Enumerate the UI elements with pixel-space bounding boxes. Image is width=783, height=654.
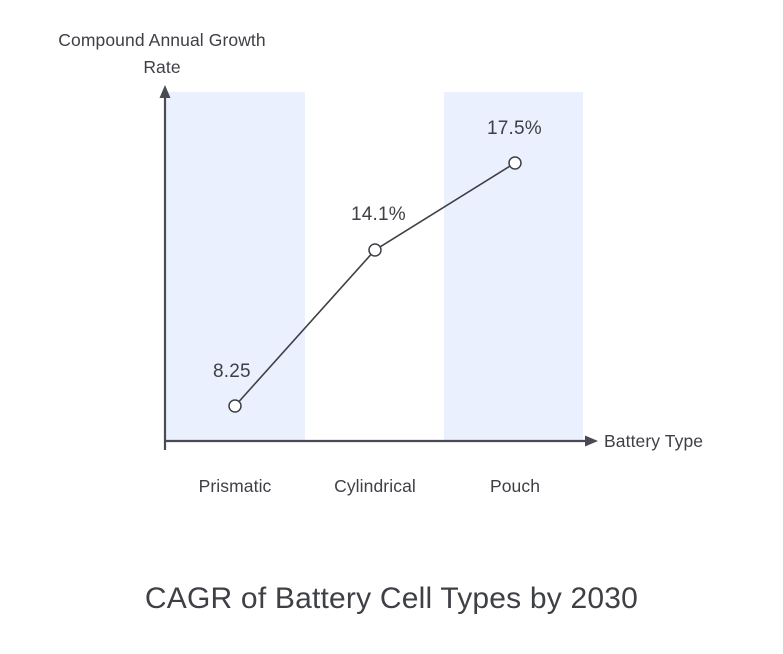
category-band-pouch — [444, 92, 583, 441]
data-point-marker[interactable] — [369, 244, 381, 256]
data-point-marker[interactable] — [229, 400, 241, 412]
data-label-cylindrical: 14.1% — [351, 205, 406, 224]
y-axis-arrowhead — [160, 85, 171, 98]
category-band-prismatic — [166, 92, 305, 441]
chart-container: Compound Annual Growth Rate 8.25 14.1% 1… — [0, 0, 783, 654]
x-axis-arrowhead — [585, 436, 598, 447]
chart-title: CAGR of Battery Cell Types by 2030 — [0, 578, 783, 620]
plot-area — [0, 0, 783, 654]
x-axis-title: Battery Type — [604, 430, 703, 453]
data-label-pouch: 17.5% — [487, 119, 542, 138]
x-tick-label-pouch: Pouch — [435, 474, 595, 498]
data-point-marker[interactable] — [509, 157, 521, 169]
x-tick-label-prismatic: Prismatic — [155, 474, 315, 498]
x-tick-label-cylindrical: Cylindrical — [295, 474, 455, 498]
data-label-prismatic: 8.25 — [213, 362, 251, 381]
